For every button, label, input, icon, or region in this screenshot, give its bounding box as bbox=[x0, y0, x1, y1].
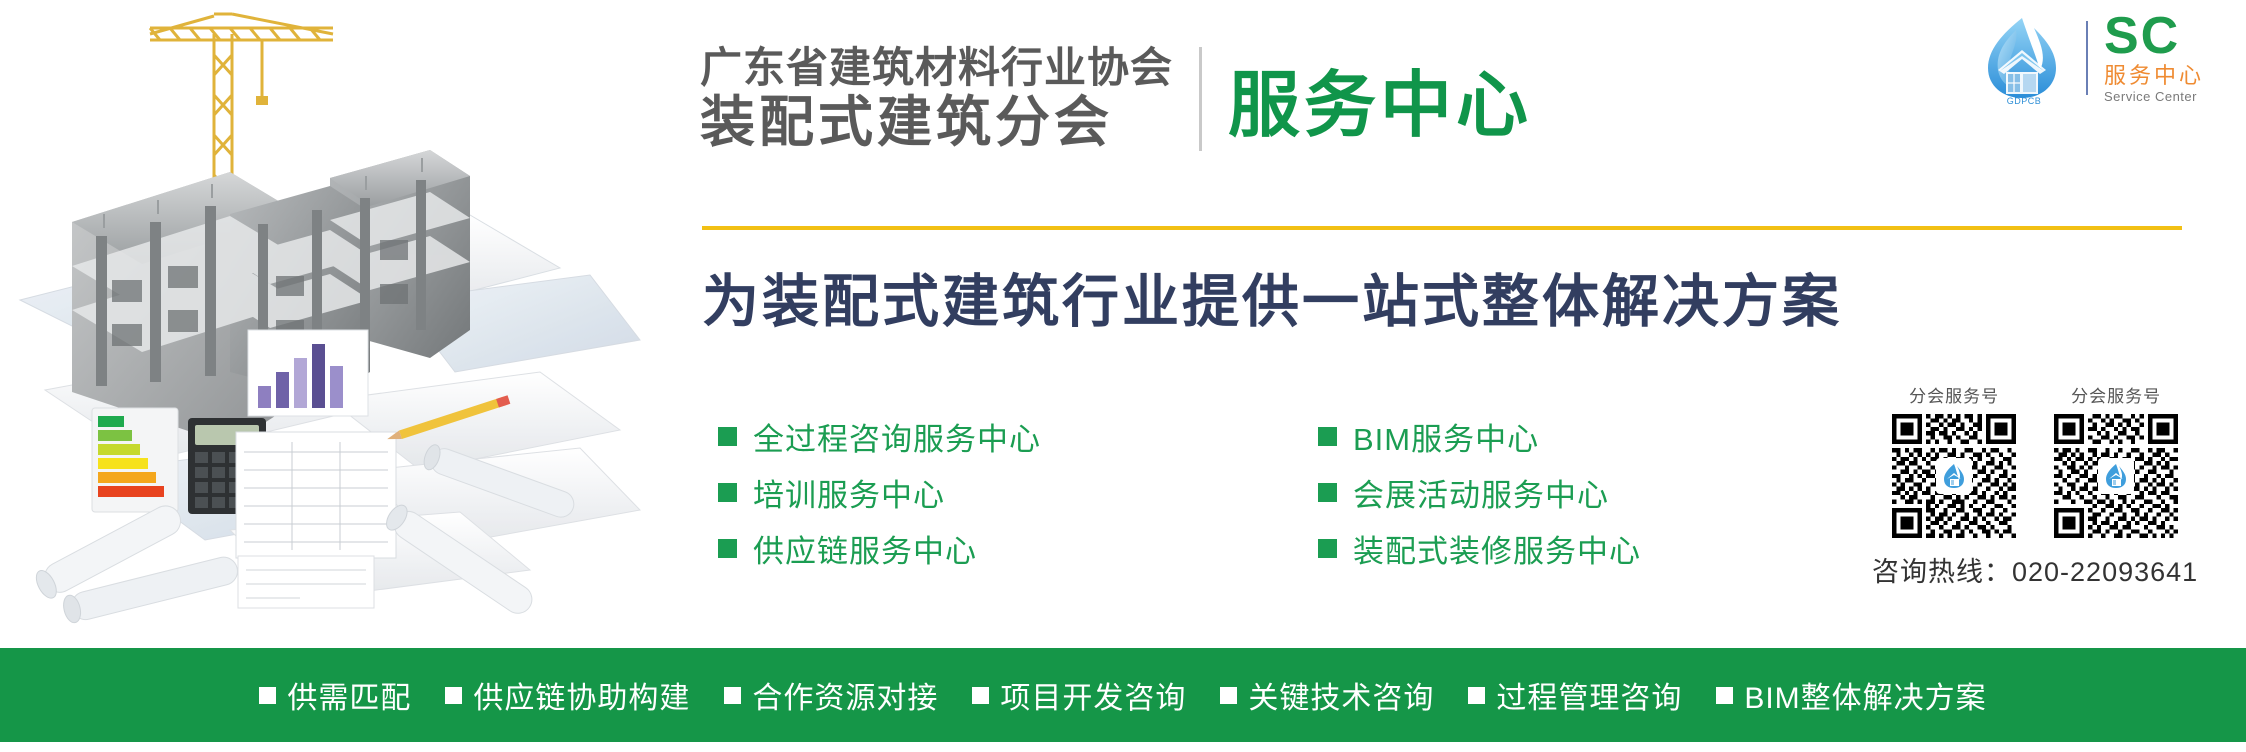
qr-code-icon[interactable] bbox=[2054, 414, 2178, 538]
service-item-zhuangxiu[interactable]: 装配式装修服务中心 bbox=[1318, 526, 1898, 571]
square-bullet-icon bbox=[718, 483, 737, 502]
square-bullet-icon bbox=[718, 427, 737, 446]
service-item-label: BIM服务中心 bbox=[1353, 414, 1539, 459]
square-bullet-icon bbox=[1468, 687, 1485, 704]
association-name: 广东省建筑材料行业协会 装配式建筑分会 bbox=[700, 47, 1173, 150]
square-bullet-icon bbox=[1220, 687, 1237, 704]
bar-item-label: BIM整体解决方案 bbox=[1744, 673, 1986, 717]
service-item-label: 会展活动服务中心 bbox=[1353, 470, 1609, 515]
service-item-label: 供应链服务中心 bbox=[753, 526, 977, 571]
bar-item-guanjianjishu[interactable]: 关键技术咨询 bbox=[1220, 673, 1434, 717]
bottom-services-bar: 供需匹配 供应链协助构建 合作资源对接 项目开发咨询 关键技术咨询 过程管理咨询… bbox=[0, 648, 2246, 742]
association-line-1: 广东省建筑材料行业协会 bbox=[700, 47, 1173, 89]
square-bullet-icon bbox=[259, 687, 276, 704]
illustration-svg bbox=[0, 0, 660, 648]
qr-caption: 分会服务号 bbox=[1909, 382, 1999, 407]
bar-item-label: 供需匹配 bbox=[287, 673, 411, 717]
construction-building-illustration bbox=[0, 0, 660, 648]
qr-center-logo-icon bbox=[1936, 458, 1972, 494]
service-item-label: 培训服务中心 bbox=[753, 470, 945, 515]
logo-mark-subtext: GDPCB bbox=[1972, 96, 2076, 106]
bar-item-guochengguanli[interactable]: 过程管理咨询 bbox=[1468, 673, 1682, 717]
qr-cell-2: 分会服务号 bbox=[2054, 382, 2178, 538]
service-item-huizhan[interactable]: 会展活动服务中心 bbox=[1318, 470, 1898, 515]
square-bullet-icon bbox=[1318, 427, 1337, 446]
logo-english-label: Service Center bbox=[2104, 89, 2197, 105]
hotline-text: 咨询热线：020-22093641 bbox=[1872, 550, 2198, 589]
service-item-peixun[interactable]: 培训服务中心 bbox=[718, 470, 1298, 515]
service-item-bim[interactable]: BIM服务中心 bbox=[1318, 414, 1898, 459]
service-item-label: 全过程咨询服务中心 bbox=[753, 414, 1041, 459]
logo-chinese-label: 服务中心 bbox=[2104, 63, 2204, 88]
qr-code-icon[interactable] bbox=[1892, 414, 2016, 538]
qr-cell-1: 分会服务号 bbox=[1892, 382, 2016, 538]
qr-center-logo-svg bbox=[1939, 461, 1969, 491]
square-bullet-icon bbox=[1318, 483, 1337, 502]
service-item-quanguocheng[interactable]: 全过程咨询服务中心 bbox=[718, 414, 1298, 459]
service-center-list: 全过程咨询服务中心 BIM服务中心 培训服务中心 会展活动服务中心 供应链服务中… bbox=[718, 408, 1898, 576]
house-flame-logo-svg bbox=[1972, 12, 2076, 104]
title-vertical-divider bbox=[1199, 47, 1202, 151]
service-center-heading: 服务中心 bbox=[1228, 46, 1532, 151]
bar-item-label: 供应链协助构建 bbox=[473, 673, 690, 717]
bottom-white-strip bbox=[0, 742, 2246, 752]
qr-center-logo-svg bbox=[2101, 461, 2131, 491]
qr-center-logo-icon bbox=[2098, 458, 2134, 494]
square-bullet-icon bbox=[445, 687, 462, 704]
bar-item-label: 过程管理咨询 bbox=[1496, 673, 1682, 717]
bar-item-bim[interactable]: BIM整体解决方案 bbox=[1716, 673, 1986, 717]
service-center-logo: GDPCB SC 服务中心 Service Center bbox=[1972, 12, 2204, 104]
bar-item-xiangmukaifa[interactable]: 项目开发咨询 bbox=[972, 673, 1186, 717]
qr-contact-block: 分会服务号 bbox=[1872, 382, 2198, 589]
service-center-banner: 广东省建筑材料行业协会 装配式建筑分会 服务中心 为装配式建筑行业提供一站式整体… bbox=[0, 0, 2246, 752]
logo-vertical-divider bbox=[2086, 21, 2088, 95]
bar-item-label: 项目开发咨询 bbox=[1000, 673, 1186, 717]
bar-item-label: 关键技术咨询 bbox=[1248, 673, 1434, 717]
square-bullet-icon bbox=[1318, 539, 1337, 558]
header-title-block: 广东省建筑材料行业协会 装配式建筑分会 服务中心 bbox=[700, 46, 1532, 151]
service-item-gongyinglian[interactable]: 供应链服务中心 bbox=[718, 526, 1298, 571]
bar-item-label: 合作资源对接 bbox=[752, 673, 938, 717]
square-bullet-icon bbox=[718, 539, 737, 558]
logo-abbrev: SC bbox=[2104, 12, 2180, 61]
banner-subtitle: 为装配式建筑行业提供一站式整体解决方案 bbox=[702, 256, 1842, 338]
bar-item-gongxupeipei[interactable]: 供需匹配 bbox=[259, 673, 411, 717]
qr-caption: 分会服务号 bbox=[2071, 382, 2161, 407]
qr-row: 分会服务号 bbox=[1892, 382, 2178, 538]
house-flame-logo-icon: GDPCB bbox=[1972, 12, 2076, 104]
bar-item-gongyinglian[interactable]: 供应链协助构建 bbox=[445, 673, 690, 717]
square-bullet-icon bbox=[1716, 687, 1733, 704]
service-item-label: 装配式装修服务中心 bbox=[1353, 526, 1641, 571]
square-bullet-icon bbox=[724, 687, 741, 704]
yellow-divider-rule bbox=[702, 226, 2182, 230]
square-bullet-icon bbox=[972, 687, 989, 704]
association-line-2: 装配式建筑分会 bbox=[700, 95, 1173, 150]
bar-item-hezuoziyuan[interactable]: 合作资源对接 bbox=[724, 673, 938, 717]
logo-text-group: SC 服务中心 Service Center bbox=[2104, 12, 2204, 104]
